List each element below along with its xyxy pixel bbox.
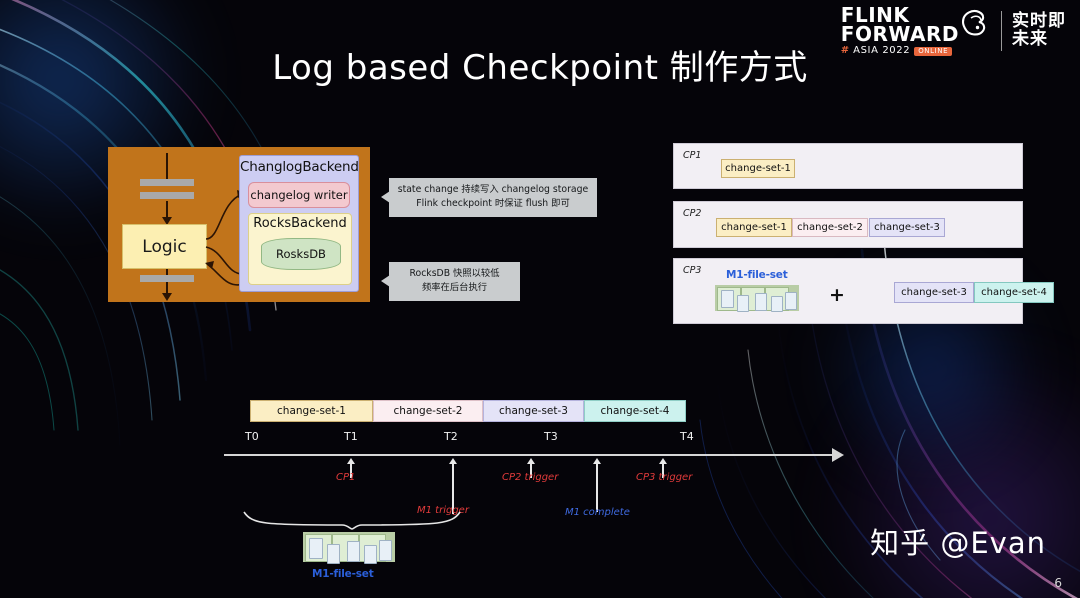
architecture-diagram: Logic ChanglogBackend changelog writer R… — [108, 147, 370, 302]
fileset-doc — [785, 292, 797, 310]
cp1-label: CP1 — [683, 150, 701, 161]
fileset-doc — [755, 293, 767, 311]
timeline-bar-change-set-2: change-set-2 — [373, 400, 483, 422]
rocksdb-cylinder: RosksDB — [261, 238, 341, 270]
fileset-doc — [721, 290, 734, 308]
cp3-plus-sign: + — [829, 284, 845, 306]
checkpoint-panel-cp1: CP1 change-set-1 — [673, 143, 1023, 189]
cp1-chip-change-set-1: change-set-1 — [721, 159, 795, 178]
timeline-brace — [242, 510, 462, 530]
fileset-doc — [379, 540, 392, 561]
page-number: 6 — [1054, 576, 1062, 590]
fileset-doc — [347, 541, 360, 562]
callout-changelog-line1: state change 持续写入 changelog storage — [396, 183, 590, 197]
checkpoint-panel-cp3: CP3 M1-file-set + change-set-3 change-se… — [673, 258, 1023, 324]
annotation-m1-complete: M1 complete — [565, 507, 630, 518]
timeline-bar-change-set-3: change-set-3 — [483, 400, 584, 422]
callout-tail — [381, 191, 390, 203]
cp3-label: CP3 — [683, 265, 701, 276]
cp3-fileset-graphic — [715, 285, 799, 311]
slide-root: FLINK FORWARD # ASIA 2022 ONLINE 实时即 — [0, 0, 1080, 598]
cp3-fileset-label: M1-file-set — [726, 269, 788, 281]
annotation-cp3-trigger: CP3 trigger — [636, 472, 692, 483]
callout-changelog-line2: Flink checkpoint 时保证 flush 即可 — [396, 197, 590, 211]
timeline-axis — [224, 454, 832, 456]
cp2-chip-change-set-2: change-set-2 — [792, 218, 868, 237]
timeline-fileset-graphic — [303, 532, 395, 562]
changelog-backend-box: ChanglogBackend changelog writer RocksBa… — [239, 155, 359, 292]
fileset-doc — [309, 538, 323, 559]
cp2-label: CP2 — [683, 208, 701, 219]
watermark: 知乎 @Evan — [870, 520, 1046, 562]
rocks-backend-box: RocksBackend RosksDB — [248, 213, 352, 285]
annotation-cp1: CP1 — [336, 472, 355, 483]
fileset-doc — [737, 295, 749, 312]
squirrel-icon — [957, 6, 991, 40]
timeline-diagram: change-set-1 change-set-2 change-set-3 c… — [224, 400, 860, 590]
changelog-writer-box: changelog writer — [248, 182, 350, 208]
timeline-tick-t0: T0 — [245, 430, 259, 443]
page-title: Log based Checkpoint 制作方式 — [0, 40, 1080, 89]
cp2-chip-change-set-3: change-set-3 — [869, 218, 945, 237]
callout-rocksdb-line1: RocksDB 快照以较低 — [396, 267, 513, 281]
cp3-chip-change-set-3: change-set-3 — [894, 282, 974, 303]
callout-changelog: state change 持续写入 changelog storage Flin… — [389, 178, 597, 217]
annotation-line-m1-complete — [596, 462, 598, 512]
fileset-doc — [327, 544, 340, 564]
callout-tail — [381, 275, 390, 287]
timeline-fileset-label: M1-file-set — [312, 568, 374, 580]
cp2-chip-change-set-1: change-set-1 — [716, 218, 792, 237]
callout-rocksdb: RocksDB 快照以较低 频率在后台执行 — [389, 262, 520, 301]
timeline-tick-t4: T4 — [680, 430, 694, 443]
timeline-bar-change-set-1: change-set-1 — [250, 400, 373, 422]
timeline-bar-change-set-4: change-set-4 — [584, 400, 686, 422]
timeline-axis-arrowhead — [832, 448, 844, 462]
checkpoint-panel-cp2: CP2 change-set-1 change-set-2 change-set… — [673, 201, 1023, 248]
fileset-doc — [364, 545, 377, 564]
callout-rocksdb-line2: 频率在后台执行 — [396, 281, 513, 295]
timeline-tick-t1: T1 — [344, 430, 358, 443]
cp3-chip-change-set-4: change-set-4 — [974, 282, 1054, 303]
fileset-doc — [771, 296, 783, 312]
changelog-backend-label: ChanglogBackend — [240, 156, 358, 175]
timeline-tick-t2: T2 — [444, 430, 458, 443]
rocks-backend-label: RocksBackend — [249, 214, 351, 231]
annotation-cp2-trigger: CP2 trigger — [502, 472, 558, 483]
timeline-tick-t3: T3 — [544, 430, 558, 443]
